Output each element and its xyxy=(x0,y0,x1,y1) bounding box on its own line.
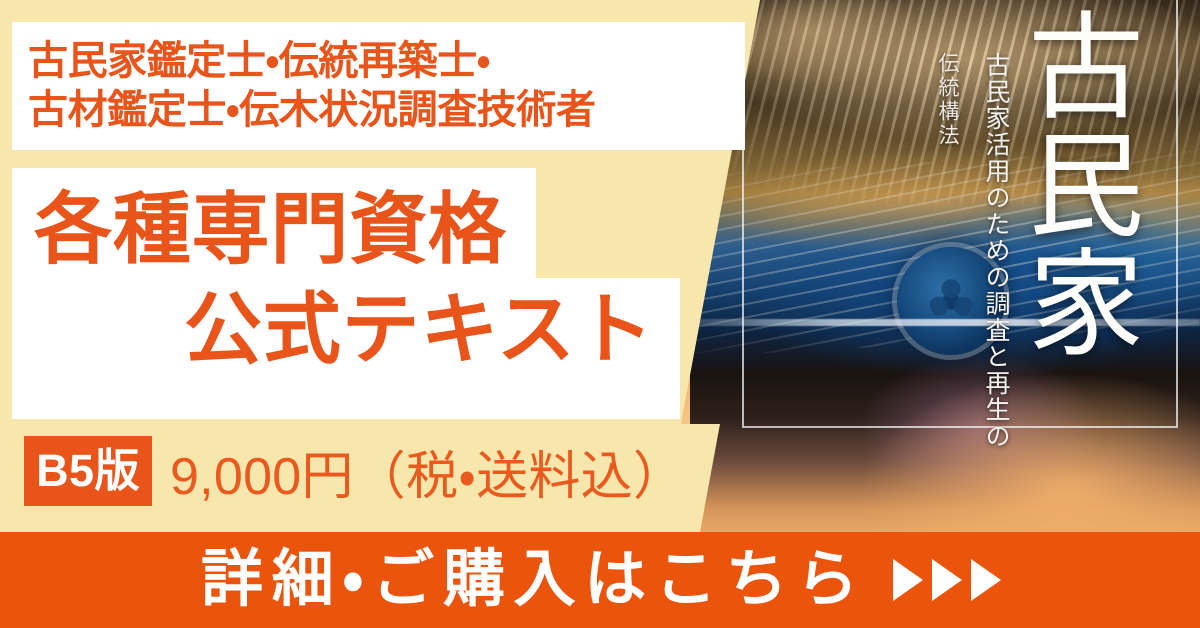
triangle-right-icon xyxy=(932,559,962,601)
format-badge: B5版 xyxy=(24,436,152,506)
qualifications-label: 古民家鑑定士・伝統再築士・ 古材鑑定士・伝木状況調査技術者 xyxy=(28,37,596,135)
promo-banner: 伝統構法 古民家活用のための調査と再生の 古民家 古民家鑑定士・伝統再築士・ 古… xyxy=(0,0,1200,628)
qualifications-card: 古民家鑑定士・伝統再築士・ 古材鑑定士・伝木状況調査技術者 xyxy=(12,22,745,150)
cta-bar[interactable]: 詳細・ご購入はこちら xyxy=(0,532,1200,628)
headline-line-1: 各種専門資格 xyxy=(34,190,507,268)
price-row: B5版 9,000円（税・送料込） xyxy=(0,424,720,532)
cta-arrow-group xyxy=(893,559,1017,601)
triangle-right-icon xyxy=(971,559,1001,601)
cta-label: 詳細・ご購入はこちら xyxy=(183,549,867,611)
price-amount: 9,000円（税・送料込） xyxy=(170,434,685,508)
book-cover-kicker: 伝統構法 xyxy=(935,52,960,148)
book-cover-title: 古民家 xyxy=(1005,6,1142,361)
book-cover-image: 伝統構法 古民家活用のための調査と再生の 古民家 xyxy=(690,0,1200,536)
triangle-right-icon xyxy=(893,559,923,601)
headline-line-2: 公式テキスト xyxy=(184,290,654,368)
